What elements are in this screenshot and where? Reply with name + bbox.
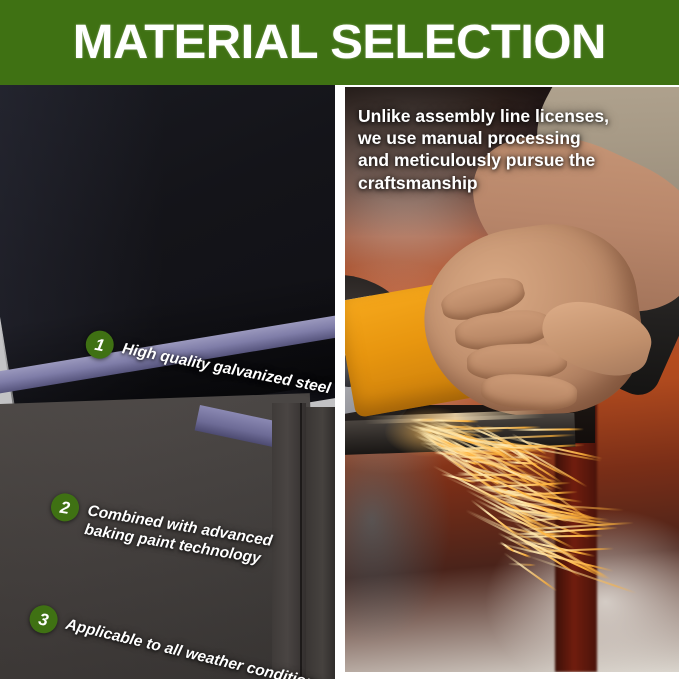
cabinet-right-edge-b bbox=[306, 407, 335, 679]
cabinet-corner-line bbox=[300, 403, 302, 679]
material-selection-infographic: MATERIAL SELECTION 1 High quality galvan… bbox=[0, 0, 679, 679]
left-product-image: 1 High quality galvanized steel 2 Combin… bbox=[0, 85, 335, 679]
callout-badge-1: 1 bbox=[83, 328, 116, 361]
right-panel-heading: Unlike assembly line licenses, we use ma… bbox=[358, 105, 628, 194]
spark bbox=[464, 477, 481, 479]
panel-divider bbox=[335, 85, 345, 679]
page-title: MATERIAL SELECTION bbox=[73, 19, 606, 67]
header-banner: MATERIAL SELECTION bbox=[0, 0, 679, 85]
callout-badge-2: 2 bbox=[49, 491, 81, 523]
right-process-image: Unlike assembly line licenses, we use ma… bbox=[345, 87, 679, 672]
